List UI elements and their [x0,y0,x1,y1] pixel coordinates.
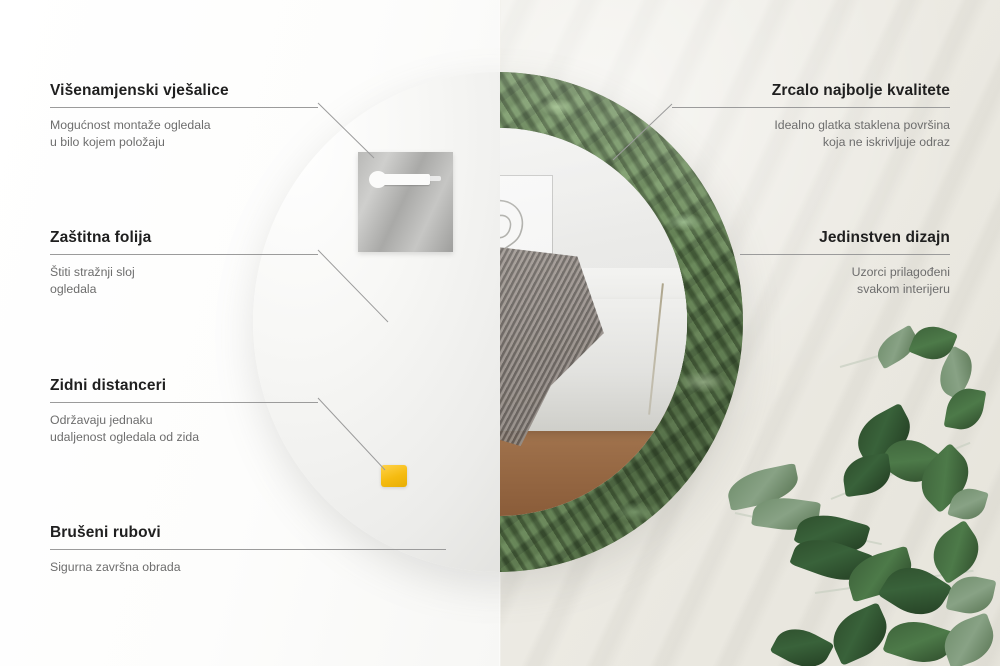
callout-unique-design-description: Uzorci prilagođeni svakom interijeru [740,264,950,297]
callout-wall-spacers: Zidni distanceri Održavaju jednaku udalj… [50,377,318,445]
callout-hangers: Višenamjenski vješalice Mogućnost montaž… [50,82,318,150]
callout-polished-edges-rule [50,549,446,550]
mirror-disc [253,72,743,572]
callout-hangers-description: Mogućnost montaže ogledala u bilo kojem … [50,117,318,150]
infographic-canvas: Višenamjenski vješalice Mogućnost montaž… [0,0,1000,666]
callout-unique-design: Jedinstven dizajn Uzorci prilagođeni sva… [740,229,950,297]
callout-protective-film: Zaštitna folija Štiti stražnji sloj ogle… [50,229,318,297]
callout-unique-design-title: Jedinstven dizajn [740,229,950,247]
callout-polished-edges: Brušeni rubovi Sigurna završna obrada [50,524,446,576]
callout-wall-spacers-description: Održavaju jednaku udaljenost ogledala od… [50,412,318,445]
hanger-keyhole-slot [374,174,430,185]
decorative-foliage [735,330,1000,666]
callout-polished-edges-title: Brušeni rubovi [50,524,446,542]
callout-hangers-title: Višenamjenski vješalice [50,82,318,100]
callout-wall-spacers-rule [50,402,318,403]
callout-protective-film-title: Zaštitna folija [50,229,318,247]
plant-leaf [937,612,1000,666]
callout-wall-spacers-title: Zidni distanceri [50,377,318,395]
callout-polished-edges-description: Sigurna završna obrada [50,559,446,576]
callout-hangers-rule [50,107,318,108]
callout-unique-design-rule [740,254,950,255]
plant-leaf [825,602,896,666]
plant-leaf [841,453,894,497]
hanger-detail [358,152,453,252]
callout-best-quality-mirror-title: Zrcalo najbolje kvalitete [672,82,950,100]
callout-best-quality-mirror-description: Idealno glatka staklena površina koja ne… [672,117,950,150]
yellow-spacer [381,465,407,487]
callout-best-quality-mirror-rule [672,107,950,108]
callout-protective-film-rule [50,254,318,255]
plant-leaf [770,619,835,666]
mirror-glass [500,128,687,516]
callout-protective-film-description: Štiti stražnji sloj ogledala [50,264,318,297]
round-mirror [253,72,743,572]
callout-best-quality-mirror: Zrcalo najbolje kvalitete Idealno glatka… [672,82,950,150]
